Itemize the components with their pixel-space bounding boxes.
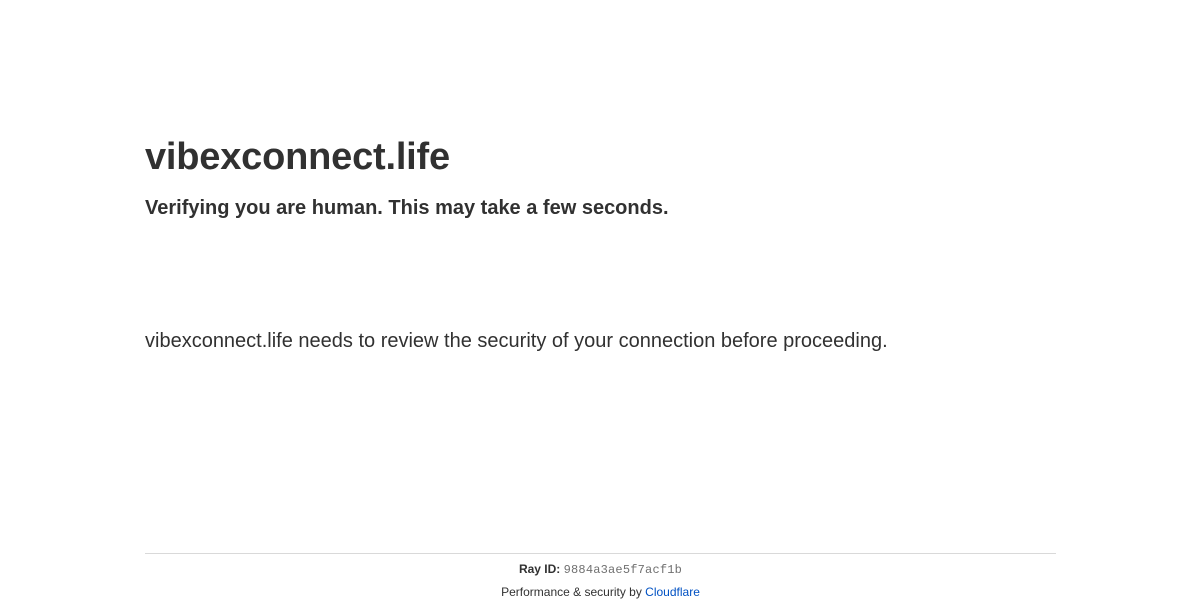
verification-status-text: Verifying you are human. This may take a…	[145, 182, 1056, 223]
attribution-text: Performance & security by	[501, 585, 645, 599]
ray-id-row: Ray ID: 9884a3ae5f7acf1b	[145, 554, 1056, 580]
challenge-description: vibexconnect.life needs to review the se…	[145, 323, 945, 359]
page-footer: Ray ID: 9884a3ae5f7acf1b Performance & s…	[145, 553, 1056, 602]
challenge-content: vibexconnect.life Verifying you are huma…	[145, 0, 1056, 359]
ray-id-value: 9884a3ae5f7acf1b	[564, 563, 682, 577]
attribution-row: Performance & security by Cloudflare	[145, 580, 1056, 602]
turnstile-widget-slot[interactable]	[145, 235, 1056, 323]
page-title: vibexconnect.life	[145, 0, 1056, 182]
challenge-page: vibexconnect.life Verifying you are huma…	[0, 0, 1200, 600]
ray-id-label: Ray ID:	[519, 562, 560, 576]
cloudflare-link[interactable]: Cloudflare	[645, 585, 700, 599]
